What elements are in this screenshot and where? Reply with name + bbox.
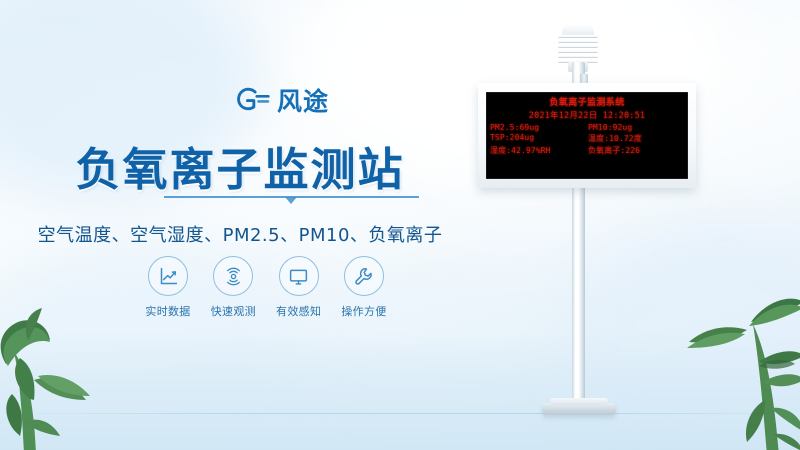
feature-item-easy-operation: 操作方便 [336, 256, 392, 319]
brand-logo: 风途 [236, 86, 329, 116]
feature-label: 有效感知 [271, 303, 327, 319]
divider-arrow-icon [285, 197, 297, 204]
fengtu-g-wing-logo-icon [236, 86, 270, 116]
led-display-screen: 负氧离子监测系统 2021年12月22日 12:20:51 PM2.5:69ug… [486, 92, 688, 179]
promo-banner: 风途 负氧离子监测站 空气温度、空气湿度、PM2.5、PM10、负氧离子 实时数… [0, 0, 800, 450]
led-readings-grid: PM2.5:69ug PM10:92ug TSP:204ug 温度:10.72度… [486, 123, 688, 156]
radar-sensor-icon [213, 256, 253, 296]
feature-item-fast-observation: 快速观测 [205, 256, 261, 319]
feature-item-realtime-data: 实时数据 [140, 256, 196, 319]
led-datetime: 2021年12月22日 12:20:51 [486, 109, 688, 121]
feature-list: 实时数据 快速观测 [140, 256, 392, 319]
led-display-housing: 负氧离子监测系统 2021年12月22日 12:20:51 PM2.5:69ug… [478, 83, 696, 188]
monitoring-station: 负氧离子监测系统 2021年12月22日 12:20:51 PM2.5:69ug… [430, 0, 800, 450]
feature-item-effective-sensing: 有效感知 [271, 256, 327, 319]
feature-label: 实时数据 [140, 303, 196, 319]
title-divider [164, 196, 419, 208]
feature-label: 快速观测 [205, 303, 261, 319]
led-title: 负氧离子监测系统 [486, 95, 688, 108]
brand-name: 风途 [277, 89, 329, 114]
led-reading-pm25: PM2.5:69ug [490, 123, 586, 132]
page-subtitle: 空气温度、空气湿度、PM2.5、PM10、负氧离子 [0, 221, 480, 247]
led-reading-tsp: TSP:204ug [490, 133, 586, 144]
led-reading-humidity: 湿度:42.97%RH [490, 145, 586, 156]
wrench-icon [344, 256, 384, 296]
hero-text-block: 风途 负氧离子监测站 空气温度、空气湿度、PM2.5、PM10、负氧离子 实时数… [0, 0, 480, 450]
feature-label: 操作方便 [336, 303, 392, 319]
led-reading-temperature: 温度:10.72度 [588, 133, 684, 144]
sensor-louvers [558, 35, 598, 63]
led-reading-pm10: PM10:92ug [588, 123, 684, 132]
page-title: 负氧离子监测站 [0, 133, 480, 198]
monitor-screen-icon [279, 256, 319, 296]
pole-base-plate [542, 403, 616, 415]
led-reading-negative-ions: 负氧离子:226 [588, 145, 684, 156]
line-chart-icon [148, 256, 188, 296]
